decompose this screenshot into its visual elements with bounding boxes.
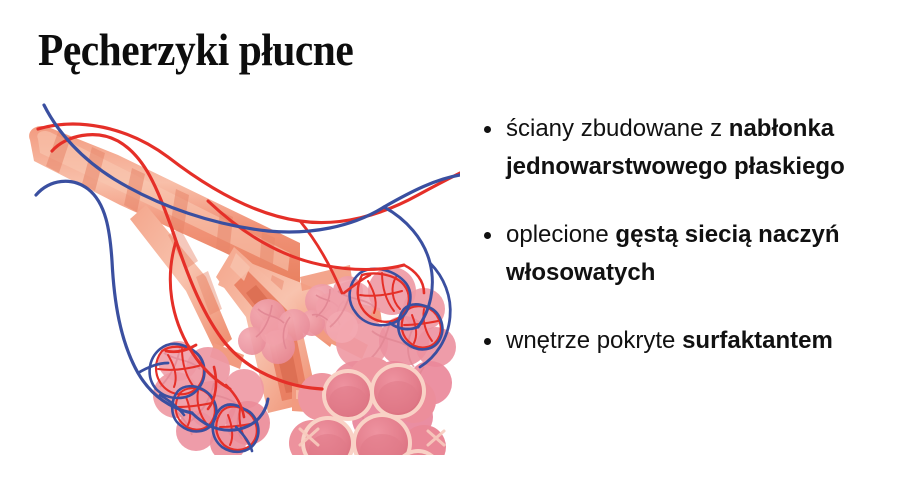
list-item: oplecione gęstą siecią naczyń włosowatyc…	[480, 216, 890, 292]
list-item: wnętrze pokryte surfaktantem	[480, 322, 890, 360]
bullet-marker-icon	[484, 126, 491, 133]
bullet-text-normal: wnętrze pokryte	[506, 327, 682, 354]
list-item: ściany zbudowane z nabłonka jednowarstwo…	[480, 110, 890, 186]
bullet-marker-icon	[484, 338, 491, 345]
bullet-text-normal: ściany zbudowane z	[506, 115, 729, 142]
bullet-list: ściany zbudowane z nabłonka jednowarstwo…	[480, 110, 890, 360]
bullet-marker-icon	[484, 232, 491, 239]
bullet-text-normal: oplecione	[506, 221, 615, 248]
bullet-text-bold: surfaktantem	[682, 327, 833, 354]
pulmonary-alveoli-illustration	[0, 95, 460, 455]
slide-canvas: Pęcherzyki płucne	[0, 0, 900, 488]
page-title: Pęcherzyki płucne	[38, 25, 353, 75]
